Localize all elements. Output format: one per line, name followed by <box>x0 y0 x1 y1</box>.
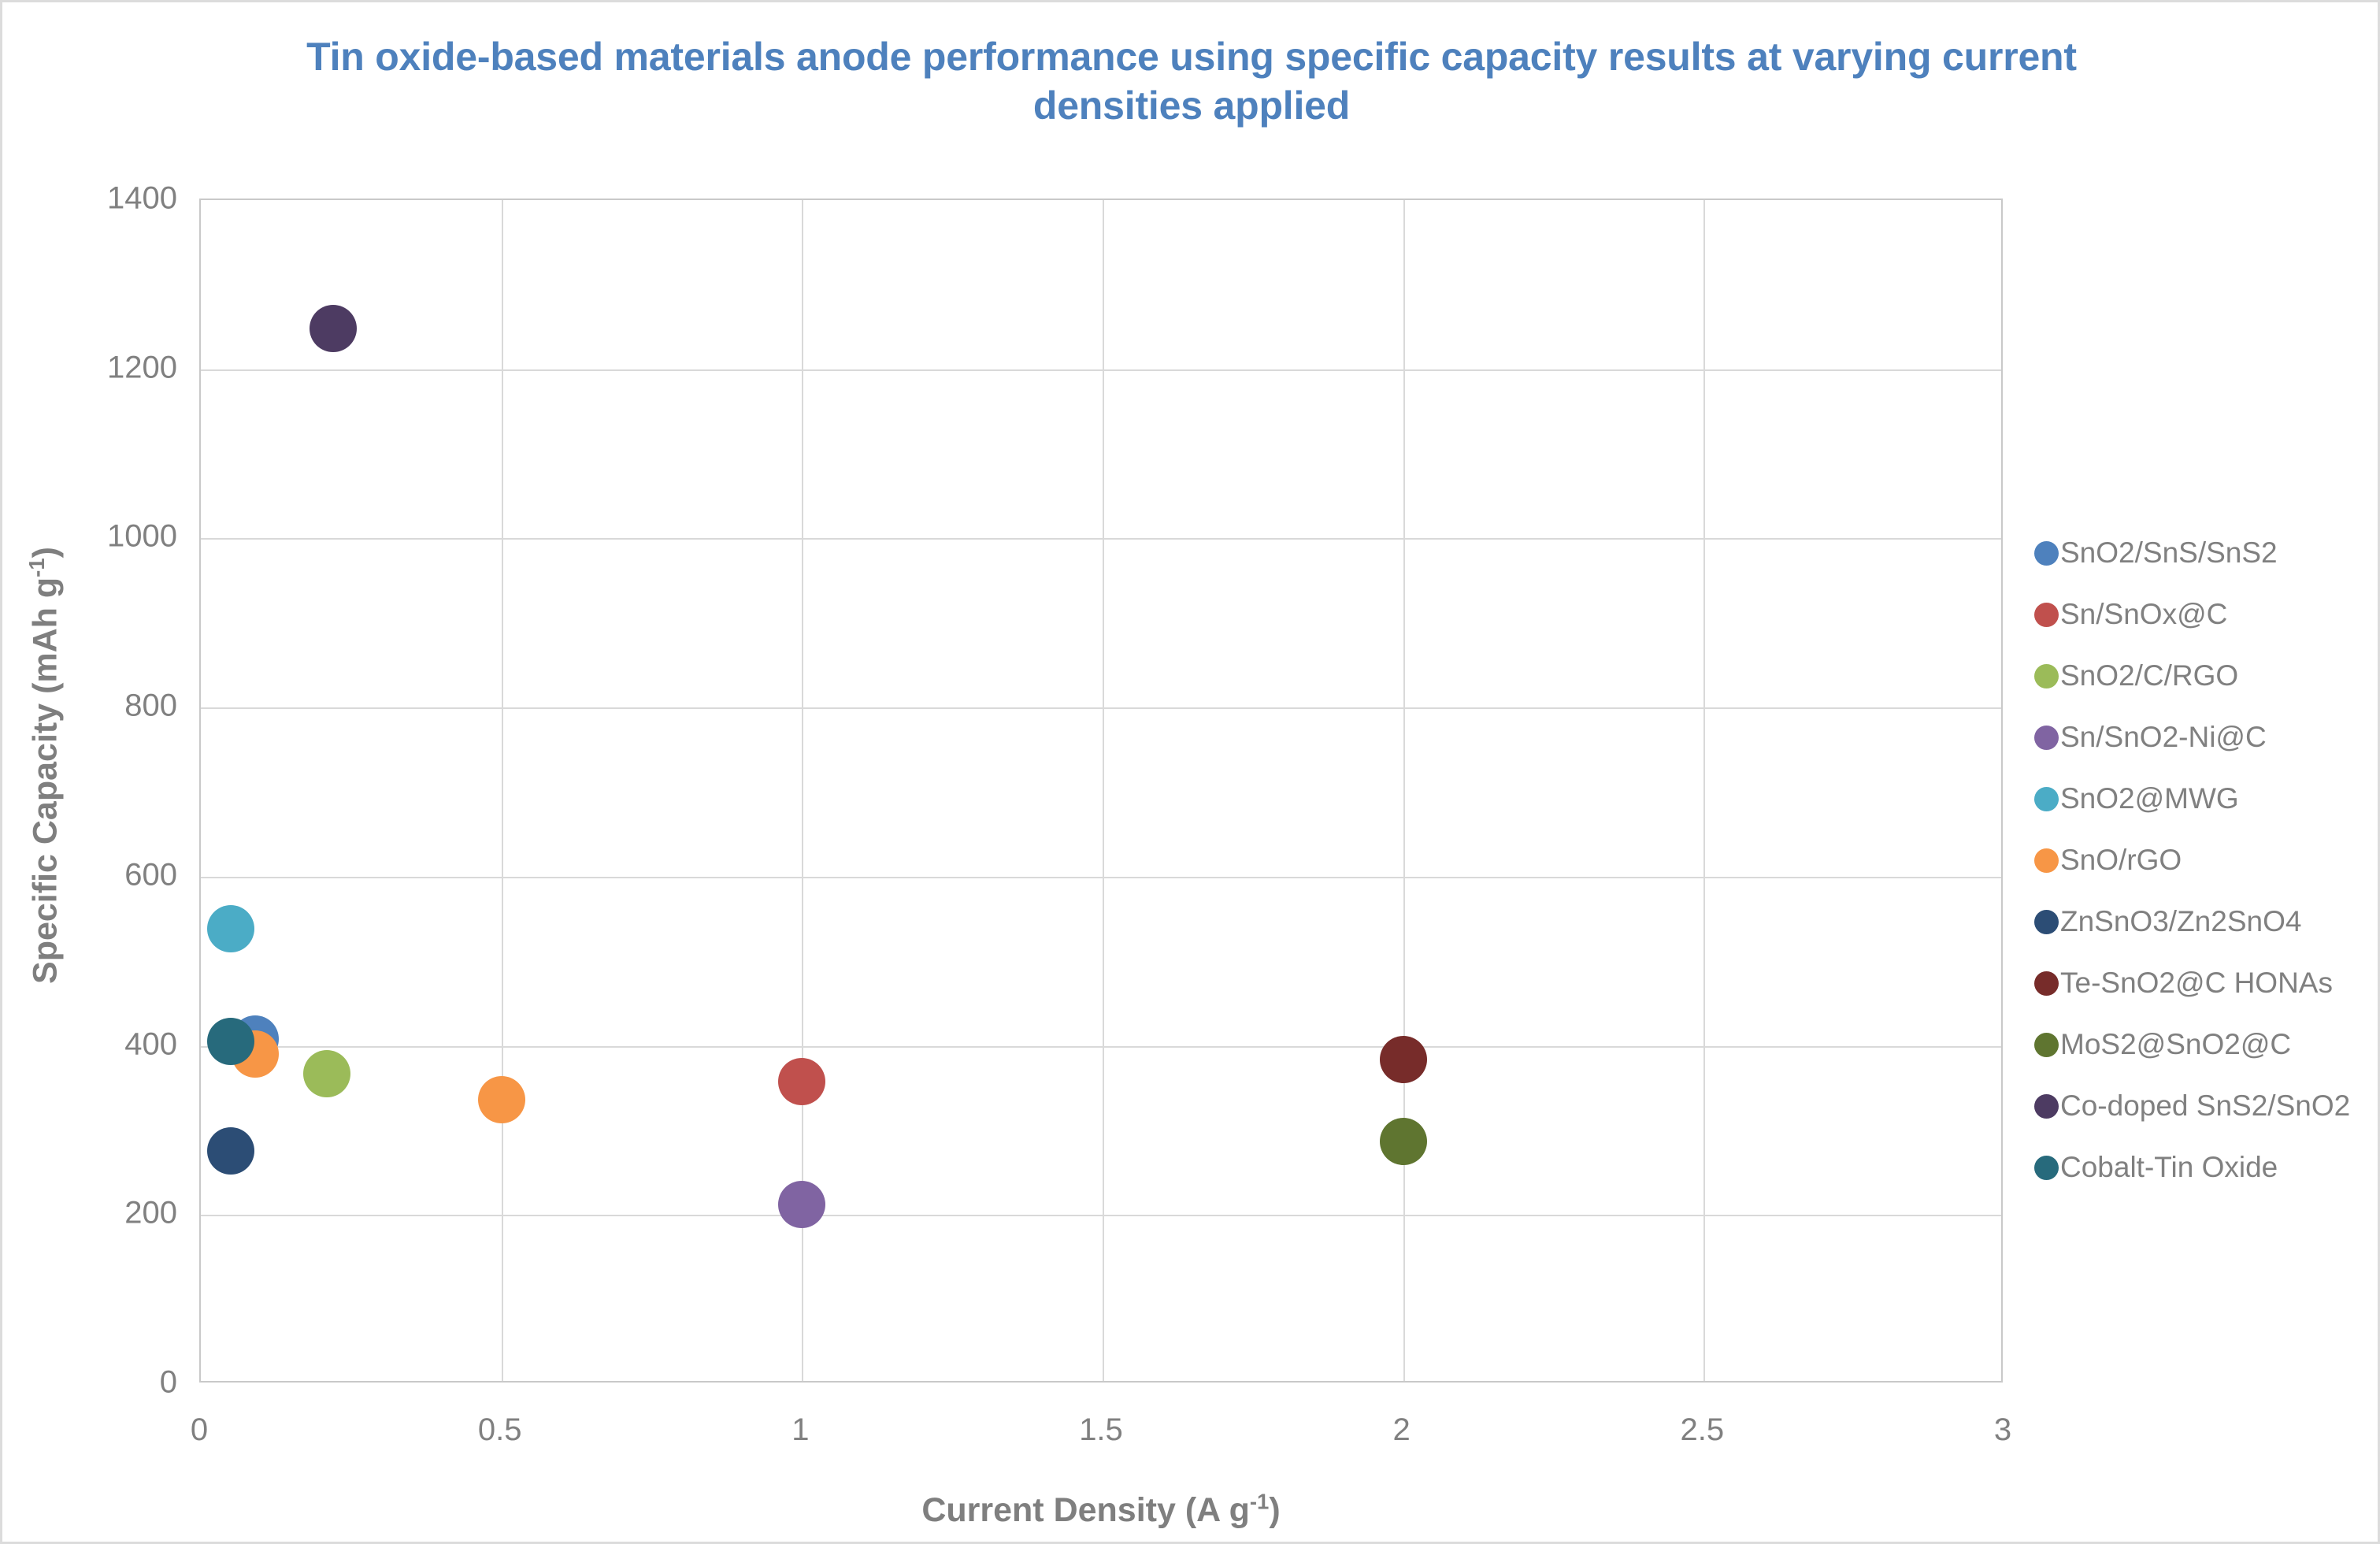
x-axis-tick-label: 0.5 <box>437 1412 563 1448</box>
data-point[interactable] <box>207 905 254 952</box>
legend-marker-icon <box>2034 910 2059 934</box>
x-axis-tick-label: 2 <box>1339 1412 1465 1448</box>
legend-marker-icon <box>2034 848 2059 873</box>
data-point[interactable] <box>207 1018 254 1065</box>
legend-label: SnO2@MWG <box>2060 782 2239 815</box>
gridline-horizontal <box>201 538 2001 540</box>
legend-label: SnO2/SnS/SnS2 <box>2060 536 2278 570</box>
legend-item[interactable]: Sn/SnOx@C <box>2034 584 2373 645</box>
x-axis-tick-label: 0 <box>136 1412 262 1448</box>
legend-item[interactable]: Te-SnO2@C HONAs <box>2034 952 2373 1014</box>
x-axis-tick-label: 1.5 <box>1038 1412 1164 1448</box>
gridline-horizontal <box>201 1215 2001 1216</box>
legend-marker-icon <box>2034 787 2059 811</box>
legend-item[interactable]: Cobalt-Tin Oxide <box>2034 1137 2373 1198</box>
data-point[interactable] <box>1380 1036 1427 1083</box>
gridline-vertical <box>1703 200 1705 1381</box>
data-point[interactable] <box>778 1181 825 1228</box>
y-axis-tick-label: 1400 <box>35 181 177 217</box>
legend-label: SnO/rGO <box>2060 844 2182 877</box>
legend-item[interactable]: SnO2/C/RGO <box>2034 645 2373 707</box>
gridline-horizontal <box>201 1046 2001 1048</box>
x-axis-tick-label: 3 <box>1940 1412 2066 1448</box>
legend: SnO2/SnS/SnS2Sn/SnOx@CSnO2/C/RGOSn/SnO2-… <box>2034 522 2373 1198</box>
x-axis-title: Current Density (A g-1) <box>199 1491 2003 1530</box>
legend-marker-icon <box>2034 971 2059 996</box>
data-point[interactable] <box>478 1076 525 1123</box>
legend-item[interactable]: SnO2@MWG <box>2034 768 2373 830</box>
legend-label: Te-SnO2@C HONAs <box>2060 967 2333 1000</box>
y-axis-title: Specific Capacity (mAh g-1) <box>27 293 65 1238</box>
gridline-vertical <box>1403 200 1405 1381</box>
y-axis-tick-label: 0 <box>35 1365 177 1401</box>
legend-marker-icon <box>2034 1156 2059 1180</box>
x-axis-tick-labels: 00.511.522.53 <box>199 1412 2003 1460</box>
gridline-horizontal <box>201 707 2001 709</box>
chart-container: Tin oxide-based materials anode performa… <box>0 0 2380 1544</box>
legend-label: Cobalt-Tin Oxide <box>2060 1151 2278 1184</box>
data-point[interactable] <box>303 1050 350 1097</box>
gridline-vertical <box>1103 200 1104 1381</box>
chart-title: Tin oxide-based materials anode performa… <box>262 32 2121 130</box>
legend-item[interactable]: SnO/rGO <box>2034 830 2373 891</box>
gridline-horizontal <box>201 369 2001 371</box>
legend-marker-icon <box>2034 1094 2059 1119</box>
legend-marker-icon <box>2034 603 2059 627</box>
legend-marker-icon <box>2034 664 2059 688</box>
data-point[interactable] <box>778 1058 825 1105</box>
gridline-vertical <box>502 200 503 1381</box>
x-axis-tick-label: 1 <box>737 1412 863 1448</box>
legend-marker-icon <box>2034 726 2059 750</box>
legend-label: Sn/SnOx@C <box>2060 598 2227 631</box>
legend-label: Co-doped SnS2/SnO2 <box>2060 1089 2350 1123</box>
data-point[interactable] <box>207 1127 254 1175</box>
legend-item[interactable]: SnO2/SnS/SnS2 <box>2034 522 2373 584</box>
legend-marker-icon <box>2034 541 2059 566</box>
legend-item[interactable]: ZnSnO3/Zn2SnO4 <box>2034 891 2373 952</box>
legend-label: ZnSnO3/Zn2SnO4 <box>2060 905 2301 938</box>
gridline-horizontal <box>201 877 2001 878</box>
x-axis-tick-label: 2.5 <box>1639 1412 1765 1448</box>
plot-area <box>199 199 2003 1383</box>
legend-item[interactable]: Sn/SnO2-Ni@C <box>2034 707 2373 768</box>
legend-label: SnO2/C/RGO <box>2060 659 2238 692</box>
data-point[interactable] <box>1380 1118 1427 1165</box>
legend-label: MoS2@SnO2@C <box>2060 1028 2291 1061</box>
legend-label: Sn/SnO2-Ni@C <box>2060 721 2267 754</box>
data-point[interactable] <box>310 305 357 352</box>
legend-item[interactable]: Co-doped SnS2/SnO2 <box>2034 1075 2373 1137</box>
legend-marker-icon <box>2034 1033 2059 1057</box>
legend-item[interactable]: MoS2@SnO2@C <box>2034 1014 2373 1075</box>
